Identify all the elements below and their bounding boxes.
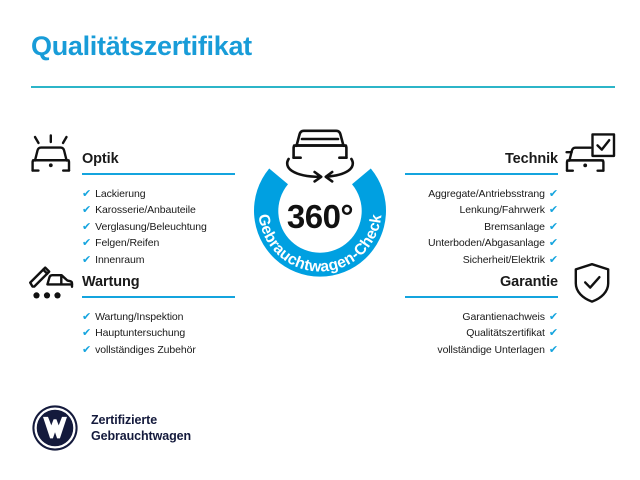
check-icon: ✔ [82, 311, 91, 323]
check-icon: ✔ [82, 237, 91, 249]
check-icon: ✔ [549, 344, 558, 356]
list-item: Sicherheit/Elektrik✔ [405, 252, 558, 268]
list-item-label: Hauptuntersuchung [95, 327, 185, 339]
title-divider [31, 86, 615, 88]
list-item-label: Innenraum [95, 254, 144, 266]
check-icon: ✔ [549, 311, 558, 323]
vw-logo [31, 404, 79, 452]
section-garantie-list: Garantienachweis✔ Qualitätszertifikat✔ v… [405, 309, 558, 358]
check-icon: ✔ [82, 221, 91, 233]
list-item-label: Wartung/Inspektion [95, 311, 183, 323]
car-shine-icon [26, 134, 76, 176]
car-rotation-icon [287, 131, 353, 182]
section-optik-title: Optik [82, 149, 235, 169]
list-item-label: Felgen/Reifen [95, 237, 159, 249]
car-checkbox-icon [565, 132, 617, 176]
section-garantie-divider [405, 296, 558, 298]
section-technik-list: Aggregate/Antriebsstrang✔ Lenkung/Fahrwe… [405, 186, 558, 268]
check-icon: ✔ [82, 204, 91, 216]
list-item: ✔vollständiges Zubehör [82, 342, 235, 358]
section-optik-header: Optik [82, 149, 235, 175]
list-item: ✔Karosserie/Anbauteile [82, 202, 235, 218]
list-item: ✔Lackierung [82, 186, 235, 202]
check-icon: ✔ [82, 254, 91, 266]
section-technik-divider [405, 173, 558, 175]
list-item: Unterboden/Abgasanlage✔ [405, 235, 558, 251]
footer-line-1: Zertifizierte [91, 412, 191, 428]
shield-check-icon [570, 261, 614, 305]
check-icon: ✔ [549, 188, 558, 200]
footer-line-2: Gebrauchtwagen [91, 428, 191, 444]
section-technik: Technik Aggregate/Antriebsstrang✔ Lenkun… [405, 149, 558, 268]
list-item-label: Qualitätszertifikat [466, 327, 545, 339]
list-item: ✔Verglasung/Beleuchtung [82, 219, 235, 235]
check-icon: ✔ [549, 327, 558, 339]
list-item: Garantienachweis✔ [405, 309, 558, 325]
list-item-label: Sicherheit/Elektrik [463, 254, 545, 266]
section-optik-list: ✔Lackierung ✔Karosserie/Anbauteile ✔Verg… [82, 186, 235, 268]
badge-ring: Gebrauchtwagen-Check [228, 118, 412, 302]
section-technik-header: Technik [405, 149, 558, 175]
list-item-label: Karosserie/Anbauteile [95, 204, 196, 216]
list-item: ✔Innenraum [82, 252, 235, 268]
check-icon: ✔ [549, 221, 558, 233]
list-item: Lenkung/Fahrwerk✔ [405, 202, 558, 218]
section-garantie: Garantie Garantienachweis✔ Qualitätszert… [405, 272, 558, 358]
list-item: vollständige Unterlagen✔ [405, 342, 558, 358]
list-item: ✔Wartung/Inspektion [82, 309, 235, 325]
list-item: ✔Felgen/Reifen [82, 235, 235, 251]
list-item-label: vollständiges Zubehör [95, 344, 196, 356]
section-optik-divider [82, 173, 235, 175]
section-wartung-title: Wartung [82, 272, 235, 292]
section-wartung: Wartung ✔Wartung/Inspektion ✔Hauptunters… [82, 272, 235, 358]
section-technik-title: Technik [405, 149, 558, 169]
list-item: Qualitätszertifikat✔ [405, 325, 558, 341]
list-item-label: vollständige Unterlagen [437, 344, 544, 356]
section-wartung-list: ✔Wartung/Inspektion ✔Hauptuntersuchung ✔… [82, 309, 235, 358]
list-item-label: Garantienachweis [462, 311, 544, 323]
page-title: Qualitätszertifikat [31, 31, 252, 62]
certificate-page: Qualitätszertifikat Optik ✔Lackierung ✔K… [0, 0, 640, 480]
list-item-label: Verglasung/Beleuchtung [95, 221, 207, 233]
section-garantie-title: Garantie [405, 272, 558, 292]
list-item: Bremsanlage✔ [405, 219, 558, 235]
section-garantie-header: Garantie [405, 272, 558, 298]
check-icon: ✔ [82, 327, 91, 339]
badge-360-gebrauchtwagen-check: Gebrauchtwagen-Check 360° [228, 118, 412, 302]
section-wartung-header: Wartung [82, 272, 235, 298]
list-item-label: Lackierung [95, 188, 145, 200]
list-item-label: Unterboden/Abgasanlage [428, 237, 545, 249]
list-item: ✔Hauptuntersuchung [82, 325, 235, 341]
check-icon: ✔ [82, 344, 91, 356]
list-item-label: Lenkung/Fahrwerk [460, 204, 545, 216]
footer-brand-text: Zertifizierte Gebrauchtwagen [91, 412, 191, 444]
list-item-label: Bremsanlage [484, 221, 545, 233]
check-icon: ✔ [549, 237, 558, 249]
list-item: Aggregate/Antriebsstrang✔ [405, 186, 558, 202]
check-icon: ✔ [549, 204, 558, 216]
check-icon: ✔ [549, 254, 558, 266]
check-icon: ✔ [82, 188, 91, 200]
section-optik: Optik ✔Lackierung ✔Karosserie/Anbauteile… [82, 149, 235, 268]
list-item-label: Aggregate/Antriebsstrang [428, 188, 545, 200]
wrench-car-icon [26, 260, 76, 302]
section-wartung-divider [82, 296, 235, 298]
footer-brand: Zertifizierte Gebrauchtwagen [31, 404, 191, 452]
